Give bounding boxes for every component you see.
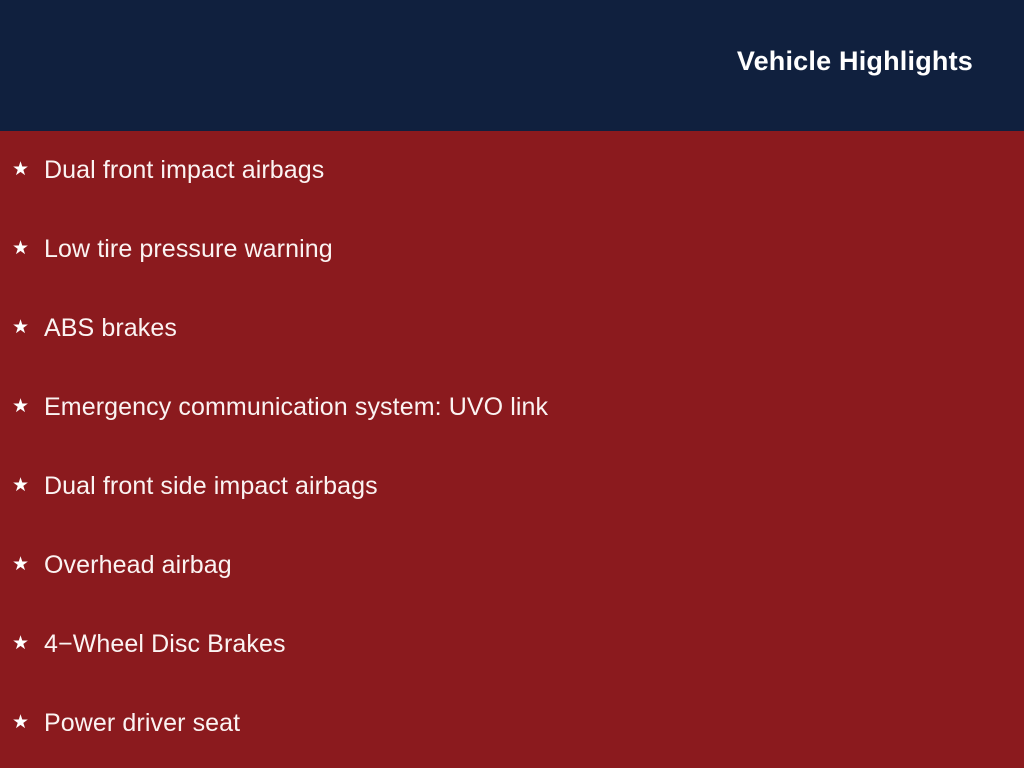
list-item: ★ 4−Wheel Disc Brakes bbox=[12, 627, 286, 661]
page-title: Vehicle Highlights bbox=[737, 48, 973, 75]
list-item: ★ Low tire pressure warning bbox=[12, 232, 333, 266]
list-item: ★ Dual front side impact airbags bbox=[12, 469, 378, 503]
header-band: Vehicle Highlights bbox=[0, 0, 1024, 131]
star-bullet-icon: ★ bbox=[12, 634, 32, 653]
star-bullet-icon: ★ bbox=[12, 160, 32, 179]
star-bullet-icon: ★ bbox=[12, 713, 32, 732]
list-item: ★ ABS brakes bbox=[12, 311, 177, 345]
highlight-label: ABS brakes bbox=[44, 315, 177, 341]
highlight-label: Power driver seat bbox=[44, 710, 240, 736]
star-bullet-icon: ★ bbox=[12, 239, 32, 258]
list-item: ★ Emergency communication system: UVO li… bbox=[12, 390, 548, 424]
star-bullet-icon: ★ bbox=[12, 555, 32, 574]
star-bullet-icon: ★ bbox=[12, 318, 32, 337]
vehicle-highlights-slide: Vehicle Highlights ★ Dual front impact a… bbox=[0, 0, 1024, 768]
highlight-label: Emergency communication system: UVO link bbox=[44, 394, 548, 420]
star-bullet-icon: ★ bbox=[12, 476, 32, 495]
list-item: ★ Overhead airbag bbox=[12, 548, 232, 582]
highlight-label: Low tire pressure warning bbox=[44, 236, 333, 262]
list-item: ★ Power driver seat bbox=[12, 706, 240, 740]
list-item: ★ Dual front impact airbags bbox=[12, 153, 324, 187]
highlight-label: Dual front impact airbags bbox=[44, 157, 324, 183]
highlight-label: Dual front side impact airbags bbox=[44, 473, 378, 499]
highlight-label: 4−Wheel Disc Brakes bbox=[44, 631, 286, 657]
highlight-label: Overhead airbag bbox=[44, 552, 232, 578]
star-bullet-icon: ★ bbox=[12, 397, 32, 416]
vehicle-highlights-list: ★ Dual front impact airbags ★ Low tire p… bbox=[0, 131, 1024, 768]
